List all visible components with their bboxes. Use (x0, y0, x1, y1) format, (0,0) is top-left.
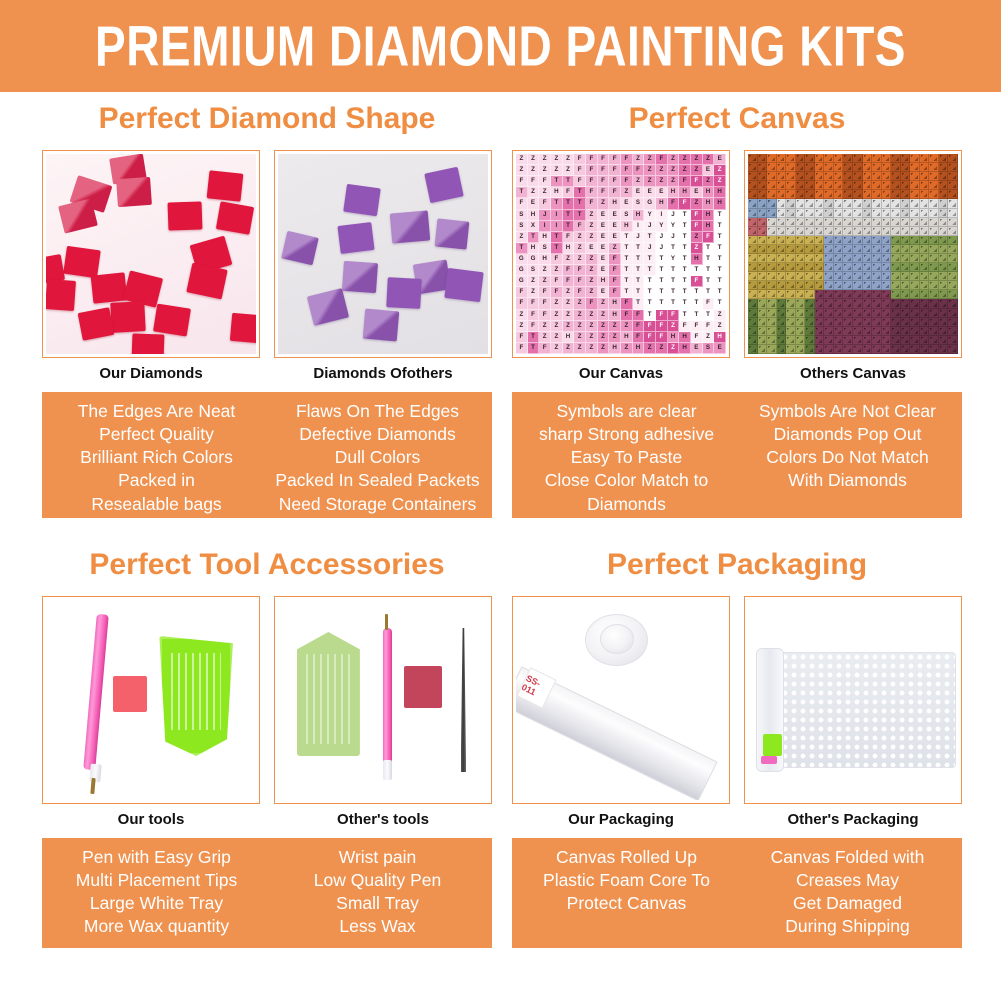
feature-line: Easy To Paste (518, 446, 735, 469)
other-canvas-cell (777, 290, 787, 299)
other-canvas-cell (767, 263, 777, 272)
card-our-tools: Our tools (42, 596, 260, 829)
other-canvas-cell (872, 281, 882, 290)
canvas-symbol-cell: Z (668, 176, 680, 187)
canvas-symbol-cell: F (609, 276, 621, 287)
other-canvas-cell (758, 199, 768, 208)
photo-frame-other-canvas (744, 150, 962, 358)
other-canvas-cell (786, 218, 796, 227)
other-canvas-cell (796, 227, 806, 236)
other-canvas-cell (891, 218, 901, 227)
other-canvas-cell (948, 172, 958, 181)
other-canvas-cell (824, 345, 834, 354)
other-canvas-cell (767, 227, 777, 236)
canvas-symbol-cell: Z (668, 154, 680, 165)
other-canvas-cell (853, 190, 863, 199)
canvas-symbol-cell: Z (586, 287, 598, 298)
other-canvas-cell (758, 336, 768, 345)
other-canvas-cell (872, 245, 882, 254)
other-canvas-cell (748, 245, 758, 254)
canvas-symbol-cell: F (656, 321, 668, 332)
other-canvas-cell (920, 218, 930, 227)
photo-frame-other-tools (274, 596, 492, 804)
other-canvas-cell (910, 336, 920, 345)
canvas-symbol-cell: T (633, 298, 645, 309)
other-canvas-cell (748, 336, 758, 345)
other-canvas-cell (786, 172, 796, 181)
other-canvas-cell (853, 209, 863, 218)
other-canvas-cell (815, 290, 825, 299)
other-canvas-cell (758, 272, 768, 281)
other-canvas-cell (834, 290, 844, 299)
other-canvas-cell (834, 309, 844, 318)
canvas-symbol-cell: T (551, 198, 563, 209)
other-canvas-cell (748, 181, 758, 190)
other-canvas-cell (758, 299, 768, 308)
canvas-symbol-cell: F (586, 154, 598, 165)
canvas-symbol-cell: F (644, 332, 656, 343)
other-canvas-cell (758, 190, 768, 199)
other-canvas-cell (920, 245, 930, 254)
canvas-symbol-cell: H (563, 332, 575, 343)
other-canvas-cell (863, 218, 873, 227)
other-canvas-cell (815, 309, 825, 318)
other-canvas-cell (786, 281, 796, 290)
feature-line: Canvas Rolled Up (518, 846, 735, 869)
other-canvas-cell (777, 327, 787, 336)
other-canvas-cell (929, 254, 939, 263)
section-title-canvas: Perfect Canvas (512, 104, 962, 134)
canvas-symbol-cell: T (644, 232, 656, 243)
canvas-symbol-cell: Z (621, 187, 633, 198)
other-canvas-cell (777, 209, 787, 218)
canvas-symbol-cell: T (679, 265, 691, 276)
canvas-symbol-cell: Z (633, 176, 645, 187)
other-canvas-cell (805, 263, 815, 272)
other-canvas-cell (939, 236, 949, 245)
feature-line: Perfect Quality (48, 423, 265, 446)
other-canvas-cell (796, 172, 806, 181)
other-canvas-cell (863, 172, 873, 181)
other-canvas-cell (929, 181, 939, 190)
other-canvas-cell (777, 336, 787, 345)
canvas-symbol-cell: Z (574, 343, 586, 354)
other-canvas-cell (882, 345, 892, 354)
other-canvas-cell (872, 199, 882, 208)
canvas-symbol-cell: F (563, 276, 575, 287)
other-canvas-cell (939, 209, 949, 218)
other-canvas-cell (863, 299, 873, 308)
canvas-symbol-cell: Z (586, 254, 598, 265)
canvas-symbol-cell: Z (563, 321, 575, 332)
other-canvas-cell (891, 236, 901, 245)
canvas-symbol-cell: F (516, 298, 528, 309)
canvas-symbol-cell: F (539, 198, 551, 209)
other-canvas-cell (901, 345, 911, 354)
other-canvas-cell (920, 254, 930, 263)
canvas-symbol-cell: E (609, 232, 621, 243)
other-canvas-cell (796, 327, 806, 336)
canvas-symbol-cell: T (656, 265, 668, 276)
other-canvas-cell (824, 154, 834, 163)
canvas-symbol-cell: T (644, 265, 656, 276)
canvas-symbol-cell: T (551, 232, 563, 243)
other-canvas-cell (853, 163, 863, 172)
feature-line: Diamonds (518, 493, 735, 516)
other-canvas-cell (882, 154, 892, 163)
canvas-symbol-cell: E (609, 221, 621, 232)
other-canvas-cell (948, 272, 958, 281)
feature-line: Multi Placement Tips (48, 869, 265, 892)
red-square-diamonds-photo (46, 154, 256, 354)
feature-box-packaging: Canvas Rolled Up Plastic Foam Core To Pr… (512, 838, 962, 948)
canvas-symbol-cell: F (516, 176, 528, 187)
canvas-symbol-cell: F (598, 154, 610, 165)
other-canvas-cell (882, 163, 892, 172)
canvas-symbol-cell: Z (563, 310, 575, 321)
canvas-symbol-cell: Z (691, 243, 703, 254)
canvas-symbol-cell: E (609, 210, 621, 221)
canvas-symbol-cell: T (691, 298, 703, 309)
canvas-symbol-cell: Z (516, 232, 528, 243)
other-canvas-cell (777, 245, 787, 254)
other-canvas-cell (920, 163, 930, 172)
canvas-symbol-cell: T (703, 254, 715, 265)
other-canvas-cell (863, 227, 873, 236)
other-canvas-cell (872, 327, 882, 336)
other-canvas-cell (948, 245, 958, 254)
other-canvas-cell (786, 181, 796, 190)
other-canvas-cell (805, 272, 815, 281)
canvas-symbol-cell: I (633, 221, 645, 232)
feature-line: Dull Colors (269, 446, 486, 469)
other-canvas-cell (796, 236, 806, 245)
other-canvas-cell (920, 181, 930, 190)
other-canvas-cell (748, 209, 758, 218)
other-canvas-cell (872, 309, 882, 318)
other-canvas-cell (796, 154, 806, 163)
canvas-symbol-cell: Z (586, 321, 598, 332)
other-canvas-cell (901, 272, 911, 281)
other-canvas-cell (948, 209, 958, 218)
other-canvas-cell (815, 318, 825, 327)
other-canvas-cell (910, 345, 920, 354)
other-canvas-cell (948, 218, 958, 227)
other-canvas-cell (872, 254, 882, 263)
other-canvas-cell (939, 290, 949, 299)
other-canvas-cell (910, 245, 920, 254)
other-canvas-cell (796, 299, 806, 308)
other-canvas-cell (853, 336, 863, 345)
other-canvas-cell (805, 309, 815, 318)
other-canvas-cell (863, 199, 873, 208)
other-canvas-cell (758, 318, 768, 327)
page-title: PREMIUM DIAMOND PAINTING KITS (95, 18, 906, 74)
other-canvas-cell (853, 281, 863, 290)
other-canvas-cell (939, 245, 949, 254)
other-canvas-cell (767, 154, 777, 163)
feature-col-other-diamonds: Flaws On The Edges Defective Diamonds Du… (267, 400, 488, 508)
other-canvas-cell (891, 199, 901, 208)
other-canvas-cell (901, 190, 911, 199)
other-canvas-cell (815, 181, 825, 190)
canvas-symbol-cell: Z (714, 310, 726, 321)
canvas-symbol-cell: F (621, 165, 633, 176)
other-canvas-cell (748, 218, 758, 227)
other-canvas-cell (767, 281, 777, 290)
canvas-symbol-cell: Z (574, 321, 586, 332)
feature-line: During Shipping (739, 915, 956, 938)
canvas-symbol-cell: T (703, 276, 715, 287)
canvas-symbol-cell: T (703, 287, 715, 298)
feature-box-canvas: Symbols are clear sharp Strong adhesive … (512, 392, 962, 518)
canvas-symbol-cell: T (621, 276, 633, 287)
canvas-symbol-cell: F (574, 287, 586, 298)
other-canvas-cell (929, 327, 939, 336)
canvas-symbol-cell: F (528, 321, 540, 332)
other-canvas-cell (929, 172, 939, 181)
other-canvas-cell (863, 336, 873, 345)
other-canvas-cell (891, 227, 901, 236)
canvas-symbol-cell: F (609, 254, 621, 265)
canvas-symbol-cell: E (621, 198, 633, 209)
canvas-symbol-cell: F (574, 154, 586, 165)
other-canvas-cell (843, 309, 853, 318)
canvas-symbol-cell: F (691, 221, 703, 232)
other-canvas-cell (796, 163, 806, 172)
canvas-symbol-cell: E (598, 210, 610, 221)
canvas-symbol-cell: Z (516, 321, 528, 332)
other-canvas-cell (843, 254, 853, 263)
other-canvas-cell (948, 327, 958, 336)
canvas-symbol-cell: I (539, 221, 551, 232)
other-canvas-cell (843, 290, 853, 299)
canvas-symbol-cell: Z (528, 165, 540, 176)
canvas-symbol-cell: Z (539, 154, 551, 165)
feature-line: Flaws On The Edges (269, 400, 486, 423)
canvas-symbol-cell: Z (551, 154, 563, 165)
canvas-symbol-cell: F (621, 176, 633, 187)
other-canvas-cell (796, 336, 806, 345)
section-tools: Perfect Tool Accessories Our tools (42, 550, 492, 948)
other-canvas-cell (805, 172, 815, 181)
canvas-symbol-cell: Z (586, 343, 598, 354)
canvas-symbol-cell: E (714, 343, 726, 354)
other-canvas-cell (815, 163, 825, 172)
card-our-diamonds: Our Diamonds (42, 150, 260, 383)
other-canvas-cell (863, 263, 873, 272)
feature-line: Brilliant Rich Colors (48, 446, 265, 469)
canvas-symbol-cell: I (551, 221, 563, 232)
canvas-symbol-cell: G (528, 254, 540, 265)
other-canvas-cell (796, 245, 806, 254)
photo-frame-our-canvas: ZZZZZFFFFFZZFZZZZEZZZZZFFFFFFZZZZZEZFFFT… (512, 150, 730, 358)
canvas-symbol-cell: F (609, 176, 621, 187)
canvas-symbol-cell: E (528, 198, 540, 209)
other-canvas-cell (815, 299, 825, 308)
canvas-symbol-cell: T (703, 243, 715, 254)
other-canvas-cell (872, 154, 882, 163)
canvas-symbol-cell: T (574, 210, 586, 221)
canvas-symbol-cell: T (528, 232, 540, 243)
other-canvas-cell (948, 236, 958, 245)
other-canvas-cell (910, 218, 920, 227)
other-canvas-cell (882, 236, 892, 245)
caption-our-diamonds: Our Diamonds (42, 366, 260, 383)
canvas-symbol-cell: T (644, 276, 656, 287)
feature-line: Diamonds Pop Out (739, 423, 956, 446)
other-canvas-cell (777, 299, 787, 308)
other-canvas-cell (815, 172, 825, 181)
other-canvas-cell (805, 281, 815, 290)
other-canvas-cell (815, 245, 825, 254)
canvas-symbol-cell: Z (551, 343, 563, 354)
other-canvas-cell (767, 163, 777, 172)
other-canvas-cell (882, 190, 892, 199)
other-canvas-cell (939, 190, 949, 199)
other-canvas-cell (882, 218, 892, 227)
other-canvas-cell (920, 227, 930, 236)
other-canvas-cell (891, 163, 901, 172)
other-canvas-cell (777, 181, 787, 190)
other-canvas-cell (777, 218, 787, 227)
other-canvas-cell (948, 290, 958, 299)
canvas-symbol-cell: Z (633, 154, 645, 165)
canvas-symbol-cell: Z (691, 198, 703, 209)
other-canvas-cell (853, 172, 863, 181)
feature-box-diamond-shape: The Edges Are Neat Perfect Quality Brill… (42, 392, 492, 518)
canvas-symbol-cell: T (668, 243, 680, 254)
other-canvas-cell (929, 345, 939, 354)
other-canvas-cell (920, 272, 930, 281)
feature-col-our-packaging: Canvas Rolled Up Plastic Foam Core To Pr… (516, 846, 737, 938)
canvas-symbol-cell: T (621, 232, 633, 243)
other-canvas-cell (767, 318, 777, 327)
canvas-symbol-cell: H (703, 210, 715, 221)
canvas-symbol-cell: T (656, 298, 668, 309)
other-canvas-cell (901, 318, 911, 327)
other-canvas-cell (796, 309, 806, 318)
other-canvas-cell (767, 218, 777, 227)
other-canvas-cell (843, 199, 853, 208)
other-canvas-cell (853, 318, 863, 327)
canvas-symbol-cell: Z (714, 321, 726, 332)
canvas-symbol-cell: F (656, 332, 668, 343)
other-canvas-cell (891, 290, 901, 299)
other-canvas-cell (910, 318, 920, 327)
canvas-symbol-cell: Z (714, 165, 726, 176)
canvas-symbol-cell: T (714, 210, 726, 221)
other-canvas-cell (796, 345, 806, 354)
other-canvas-cell (863, 236, 873, 245)
other-canvas-cell (777, 254, 787, 263)
card-other-canvas: Others Canvas (744, 150, 962, 383)
other-canvas-cell (929, 245, 939, 254)
other-canvas-cell (834, 154, 844, 163)
canvas-symbol-cell: F (633, 310, 645, 321)
other-canvas-cell (815, 236, 825, 245)
other-canvas-cell (748, 227, 758, 236)
other-canvas-cell (901, 163, 911, 172)
canvas-symbol-cell: T (563, 176, 575, 187)
canvas-symbol-cell: Z (528, 187, 540, 198)
canvas-symbol-cell: F (691, 210, 703, 221)
caption-other-tools: Other's tools (274, 812, 492, 829)
canvas-symbol-cell: T (656, 276, 668, 287)
section-title-tools: Perfect Tool Accessories (42, 550, 492, 580)
canvas-symbol-cell: F (609, 287, 621, 298)
canvas-symbol-cell: Z (656, 343, 668, 354)
canvas-symbol-cell: F (621, 298, 633, 309)
canvas-symbol-cell: T (714, 298, 726, 309)
other-canvas-cell (901, 227, 911, 236)
other-canvas-cell (920, 199, 930, 208)
caption-other-packaging: Other's Packaging (744, 812, 962, 829)
other-canvas-cell (824, 327, 834, 336)
canvas-symbol-cell: F (563, 232, 575, 243)
other-canvas-cell (910, 281, 920, 290)
other-canvas-cell (929, 218, 939, 227)
feature-line: Creases May (739, 869, 956, 892)
canvas-symbol-cell: Z (598, 310, 610, 321)
other-canvas-cell (767, 181, 777, 190)
other-canvas-cell (805, 154, 815, 163)
canvas-symbol-cell: Z (598, 198, 610, 209)
other-canvas-cell (815, 254, 825, 263)
other-canvas-cell (786, 318, 796, 327)
canvas-symbol-cell: T (714, 276, 726, 287)
canvas-symbol-cell: T (691, 287, 703, 298)
other-canvas-cell (758, 281, 768, 290)
canvas-symbol-cell: F (551, 287, 563, 298)
canvas-symbol-cell: Z (609, 332, 621, 343)
feature-col-our-canvas: Symbols are clear sharp Strong adhesive … (516, 400, 737, 508)
other-canvas-cell (891, 327, 901, 336)
canvas-symbol-cell: Z (668, 321, 680, 332)
other-canvas-cell (834, 190, 844, 199)
other-canvas-cell (882, 327, 892, 336)
other-canvas-cell (872, 209, 882, 218)
canvas-symbol-cell: F (668, 198, 680, 209)
other-canvas-cell (767, 245, 777, 254)
other-canvas-cell (815, 209, 825, 218)
other-canvas-cell (834, 254, 844, 263)
canvas-symbol-cell: S (703, 343, 715, 354)
canvas-symbol-cell: T (563, 198, 575, 209)
other-canvas-cell (834, 281, 844, 290)
other-canvas-cell (863, 345, 873, 354)
other-canvas-cell (891, 281, 901, 290)
other-canvas-cell (863, 318, 873, 327)
other-canvas-cell (948, 254, 958, 263)
other-canvas-cell (872, 336, 882, 345)
canvas-symbol-cell: T (633, 287, 645, 298)
canvas-symbol-cell: F (656, 154, 668, 165)
other-canvas-cell (777, 163, 787, 172)
canvas-symbol-cell: E (586, 243, 598, 254)
blurry-color-canvas-photo (748, 154, 958, 354)
canvas-symbol-cell: F (621, 310, 633, 321)
canvas-symbol-cell: F (633, 321, 645, 332)
canvas-symbol-cell: T (563, 221, 575, 232)
other-canvas-cell (777, 190, 787, 199)
photo-frame-our-diamonds (42, 150, 260, 358)
canvas-symbol-cell: E (598, 265, 610, 276)
other-canvas-cell (796, 199, 806, 208)
canvas-symbol-cell: H (609, 310, 621, 321)
canvas-symbol-cell: Z (609, 243, 621, 254)
other-canvas-cell (948, 199, 958, 208)
